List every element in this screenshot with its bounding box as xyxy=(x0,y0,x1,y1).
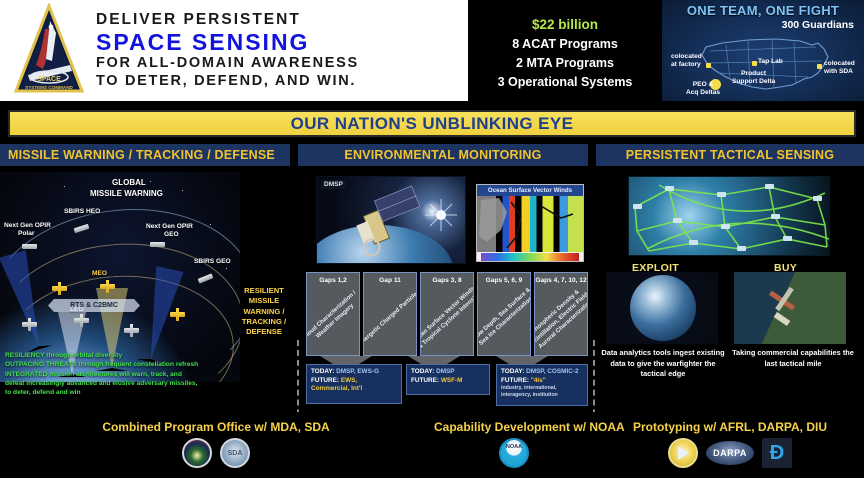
gap-description: Energetic Charged Particles xyxy=(363,287,417,350)
capability-gaps-row: Gaps 1,2 Cloud Characterization / Weathe… xyxy=(306,272,588,356)
map-label-colocated-factory: colocated at factory xyxy=(671,53,702,68)
column-missile-warning: GLOBAL MISSILE WARNING Next Gen OPIR Pol… xyxy=(0,168,296,412)
stat-mta-programs: 2 MTA Programs xyxy=(516,56,614,70)
buy-satellite-image xyxy=(734,272,846,344)
global-network-image xyxy=(628,176,830,256)
gap-title: Gaps 3, 8 xyxy=(421,277,473,285)
footer-partnerships: Combined Program Office w/ MDA, SDA SDA … xyxy=(0,412,864,478)
section-title-2: ENVIRONMENTAL MONITORING xyxy=(344,148,541,162)
today-future-row: TODAY: DMSP, EWS-G FUTURE: EWS, Commerci… xyxy=(306,364,588,406)
diu-logo: Đ xyxy=(762,438,792,468)
brand-block: SPACE SYSTEMS COMMAND DELIVER PERSISTENT… xyxy=(0,0,468,101)
gap-title: Gaps 4, 7, 10, 12 xyxy=(535,277,587,285)
column-environmental-monitoring: DMSP Ocean Surface Vector Winds Gaps 1,2… xyxy=(300,168,592,412)
exploit-earth-image xyxy=(606,272,718,344)
today-line: TODAY: DMSP, EWS-G xyxy=(311,368,397,377)
dmsp-satellite-image: DMSP xyxy=(316,176,466,264)
gap-description: Ionospheric Density & Scintillation, Ele… xyxy=(534,281,588,356)
earth-globe xyxy=(630,275,696,341)
section-title-3: PERSISTENT TACTICAL SENSING xyxy=(626,148,834,162)
column-persistent-tactical-sensing: EXPLOIT BUY Data analytics tools ingest … xyxy=(596,168,864,412)
gap-box: Gap 11 Energetic Charged Particles xyxy=(363,272,417,356)
banner-text: OUR NATION'S UNBLINKING EYE xyxy=(291,114,574,134)
future-line: FUTURE: "4is" xyxy=(501,377,583,386)
banner-wrap: OUR NATION'S UNBLINKING EYE xyxy=(0,108,864,140)
tagline-line-4: TO DETER, DEFEND, AND WIN. xyxy=(96,73,359,90)
resilient-mission-label: RESILIENT MISSILE WARNING / TRACKING / D… xyxy=(232,286,296,337)
stat-operational-systems: 3 Operational Systems xyxy=(498,75,633,89)
slide-root: SPACE SYSTEMS COMMAND DELIVER PERSISTENT… xyxy=(0,0,864,478)
top-row: SPACE SYSTEMS COMMAND DELIVER PERSISTENT… xyxy=(0,0,864,106)
section-header-environmental-monitoring: ENVIRONMENTAL MONITORING xyxy=(298,144,588,166)
network-mesh-overlay xyxy=(629,177,830,256)
footer-group-capability-development: Capability Development w/ NOAA NOAA xyxy=(434,412,594,478)
label-sbirs-geo: SBIRS GEO xyxy=(194,258,231,266)
gap-description: Cloud Characterization / Weather Imagery xyxy=(306,284,360,353)
future-note: industry, international, interagency, in… xyxy=(501,385,583,399)
sda-logo: SDA xyxy=(220,438,250,468)
gap-title: Gaps 5, 6, 9 xyxy=(478,277,530,285)
gap-description: Ocean Surface Vector Winds & Tropical Cy… xyxy=(420,284,474,353)
map-subtitle: 300 Guardians xyxy=(782,19,854,31)
footer-label: Prototyping w/ AFRL, DARPA, DIU xyxy=(596,420,864,434)
program-stats-block: $22 billion 8 ACAT Programs 2 MTA Progra… xyxy=(468,0,662,106)
buy-caption: Taking commercial capabilities the last … xyxy=(728,348,858,369)
bullet-resiliency: RESILIENCY through orbital diversity xyxy=(5,351,237,360)
section-title-1: MISSILE WARNING / TRACKING / DEFENSE xyxy=(8,148,275,162)
rts-c2bmc-label: RTS & C2BMC xyxy=(70,302,118,309)
one-team-one-fight-map: ONE TEAM, ONE FIGHT 300 Guardians coloca… xyxy=(662,0,864,101)
label-nextgen-opir-geo: Next Gen OPIR GEO xyxy=(146,223,193,239)
future-line: FUTURE: EWS, Commercial, Int'l xyxy=(311,377,397,394)
content-columns: GLOBAL MISSILE WARNING Next Gen OPIR Pol… xyxy=(0,168,864,412)
today-future-box: TODAY: DMSP, EWS-G FUTURE: EWS, Commerci… xyxy=(306,364,402,404)
map-marker-colocated-sda xyxy=(817,64,822,69)
noaa-logo: NOAA xyxy=(499,438,529,468)
footer-group-combined-program-office: Combined Program Office w/ MDA, SDA SDA xyxy=(0,412,432,478)
satellite-leo-a xyxy=(22,322,37,327)
map-marker-colocated-factory xyxy=(706,63,711,68)
bullet-integrated-2: defeat increasingly advanced and elusive… xyxy=(5,379,237,388)
space-systems-command-emblem: SPACE SYSTEMS COMMAND xyxy=(12,3,86,99)
stat-acat-programs: 8 ACAT Programs xyxy=(512,37,618,51)
svg-text:SYSTEMS COMMAND: SYSTEMS COMMAND xyxy=(25,85,73,90)
footer-label: Capability Development w/ NOAA xyxy=(434,420,594,434)
today-line: TODAY: DMSP xyxy=(411,368,485,377)
afrl-logo xyxy=(668,438,698,468)
satellite-meo-a xyxy=(52,286,67,291)
afrl-wing-icon xyxy=(678,446,689,460)
tagline-line-3: FOR ALL-DOMAIN AWARENESS xyxy=(96,55,359,72)
footer-logos: DARPA Đ xyxy=(596,438,864,468)
ocean-surface-vector-winds-image: Ocean Surface Vector Winds xyxy=(476,184,584,262)
osvw-colorbar xyxy=(481,253,579,262)
bullet-outpacing-threats: OUTPACING THREATS through frequent const… xyxy=(5,360,237,369)
resiliency-bullets: RESILIENCY through orbital diversity OUT… xyxy=(5,351,237,398)
brand-tagline: DELIVER PERSISTENT SPACE SENSING FOR ALL… xyxy=(96,11,359,90)
footer-group-prototyping: Prototyping w/ AFRL, DARPA, DIU DARPA Đ xyxy=(596,412,864,478)
today-future-box: TODAY: DMSP FUTURE: WSF-M xyxy=(406,364,490,395)
unblinking-eye-banner: OUR NATION'S UNBLINKING EYE xyxy=(8,110,856,137)
gap-title: Gaps 1,2 xyxy=(307,277,359,285)
budget-value: $22 billion xyxy=(532,17,598,32)
map-label-colocated-sda: colocated with SDA xyxy=(824,60,855,75)
mda-logo xyxy=(182,438,212,468)
darpa-logo: DARPA xyxy=(706,441,754,465)
label-global-missile-warning: GLOBAL xyxy=(112,178,146,188)
section-header-persistent-tactical-sensing: PERSISTENT TACTICAL SENSING xyxy=(596,144,864,166)
today-future-box: TODAY: DMSP, COSMIC-2 FUTURE: "4is" indu… xyxy=(496,364,588,406)
today-line: TODAY: DMSP, COSMIC-2 xyxy=(501,368,583,377)
satellite-meo-c xyxy=(170,312,185,317)
gap-box: Gaps 1,2 Cloud Characterization / Weathe… xyxy=(306,272,360,356)
exploit-caption: Data analytics tools ingest existing dat… xyxy=(598,348,728,380)
gap-box: Gaps 3, 8 Ocean Surface Vector Winds & T… xyxy=(420,272,474,356)
label-global-missile-warning-2: MISSILE WARNING xyxy=(90,189,163,199)
osvw-title: Ocean Surface Vector Winds xyxy=(477,185,583,196)
footer-logos: SDA xyxy=(0,438,432,468)
dmsp-satellite-icon xyxy=(317,177,466,264)
satellite-nextgen-opir-polar xyxy=(22,244,37,249)
map-marker-product-support-delta xyxy=(752,61,757,66)
gap-title: Gap 11 xyxy=(364,277,416,285)
label-nextgen-opir-polar: Next Gen OPIR Polar xyxy=(4,222,51,238)
osvw-swath-map xyxy=(477,196,583,252)
bullet-integrated-1: INTEGRATED mission architectures will wa… xyxy=(5,370,237,379)
gap-box: Gaps 5, 6, 9 Snow Depth, Sea Surface & S… xyxy=(477,272,531,356)
map-label-product-support-delta: Product Support Delta xyxy=(732,70,775,85)
section-header-missile-warning: MISSILE WARNING / TRACKING / DEFENSE xyxy=(0,144,290,166)
tagline-line-2: SPACE SENSING xyxy=(96,29,359,55)
gap-box: Gaps 4, 7, 10, 12 Ionospheric Density & … xyxy=(534,272,588,356)
label-meo-orbit: MEO xyxy=(92,270,107,278)
satellite-leo-b xyxy=(74,318,89,323)
bullet-integrated-3: to deter, defend and win xyxy=(5,388,237,397)
rts-c2bmc-band: RTS & C2BMC xyxy=(48,299,140,312)
future-line: FUTURE: WSF-M xyxy=(411,377,485,386)
dmsp-tag-label: DMSP xyxy=(321,180,346,189)
satellite-leo-c xyxy=(124,328,139,333)
tagline-line-1: DELIVER PERSISTENT xyxy=(96,11,359,29)
satellite-nextgen-opir-geo xyxy=(150,242,165,247)
label-sbirs-heo: SBIRS HEO xyxy=(64,208,100,216)
map-title: ONE TEAM, ONE FIGHT xyxy=(662,3,864,18)
sun-flare-icon xyxy=(425,199,457,231)
map-label-peo-acq-deltas: PEO & Acq Deltas xyxy=(686,81,720,96)
footer-logos: NOAA xyxy=(434,438,594,468)
svg-text:SPACE: SPACE xyxy=(37,76,61,83)
map-label-tap-lab: Tap Lab xyxy=(758,58,783,66)
satellite-meo-b xyxy=(100,284,115,289)
gap-description: Snow Depth, Sea Surface & Sea Ice Charac… xyxy=(477,284,531,353)
footer-label: Combined Program Office w/ MDA, SDA xyxy=(0,420,432,434)
section-header-row: MISSILE WARNING / TRACKING / DEFENSE ENV… xyxy=(0,144,864,166)
